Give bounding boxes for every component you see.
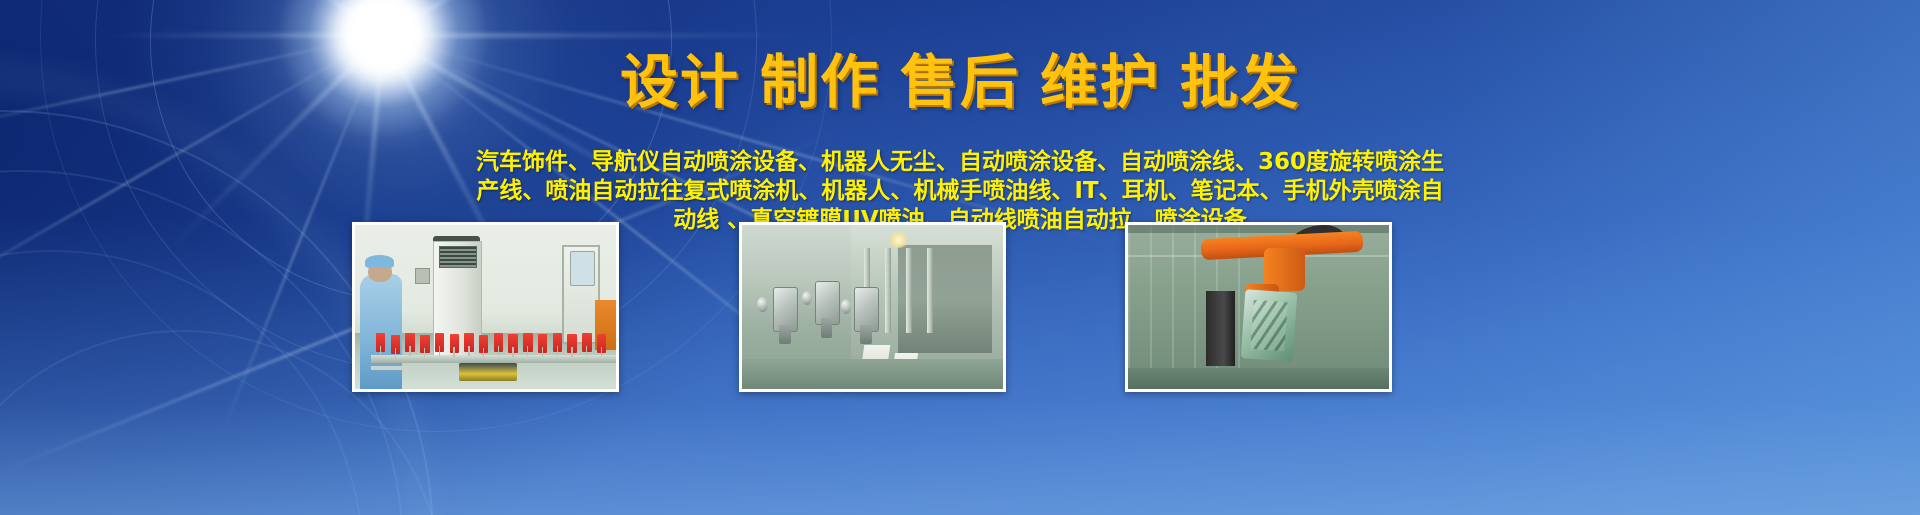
headline-item-design: 设计 <box>620 48 740 116</box>
wall-control-panel <box>415 268 430 285</box>
booth-post-3 <box>906 248 912 333</box>
photo-robot-arm[interactable] <box>1125 222 1392 392</box>
regulator-knob-2 <box>802 291 812 306</box>
coated-workpiece <box>1240 289 1297 361</box>
banner-headline: 设计制作售后维护批发 <box>0 52 1920 113</box>
spray-gun-3 <box>854 287 879 332</box>
worker-cap <box>365 255 394 268</box>
subtitle-line-2: 产线、喷油自动拉往复式喷涂机、机器人、机械手喷油线、IT、耳机、笔记本、手机外壳… <box>430 177 1490 206</box>
air-unit-vent <box>439 246 478 268</box>
robot-booth-floor <box>1128 368 1389 389</box>
worker-body <box>360 274 402 389</box>
promo-banner: 设计制作售后维护批发 汽车饰件、导航仪自动喷涂设备、机器人无尘、自动喷涂设备、自… <box>0 0 1920 515</box>
cleanroom-door-window <box>570 251 595 286</box>
red-fixture-row <box>376 333 614 359</box>
headline-item-wholesale: 批发 <box>1180 48 1300 116</box>
booth-post-4 <box>927 248 933 333</box>
booth-floor <box>742 359 1003 389</box>
headline-item-manufacture: 制作 <box>760 48 880 116</box>
workpiece-holder <box>1206 291 1235 366</box>
booth-lamp <box>888 232 909 248</box>
banner-content: 设计制作售后维护批发 汽车饰件、导航仪自动喷涂设备、机器人无尘、自动喷涂设备、自… <box>0 0 1920 515</box>
headline-item-aftersales: 售后 <box>900 48 1020 116</box>
photo-gallery <box>352 222 1392 392</box>
tool-tray <box>459 363 516 381</box>
regulator-knob-3 <box>841 299 851 314</box>
photo-spray-guns[interactable] <box>739 222 1006 392</box>
booth-post-2 <box>885 248 891 333</box>
spray-gun-2 <box>815 281 840 326</box>
spray-booth-interior-shadow <box>898 245 992 353</box>
spray-gun-1 <box>773 287 798 332</box>
subtitle-line-1: 汽车饰件、导航仪自动喷涂设备、机器人无尘、自动喷涂设备、自动喷涂线、360度旋转… <box>430 148 1490 177</box>
photo-cleanroom-conveyor[interactable] <box>352 222 619 392</box>
headline-item-maintenance: 维护 <box>1040 48 1160 116</box>
regulator-knob-1 <box>757 297 767 312</box>
